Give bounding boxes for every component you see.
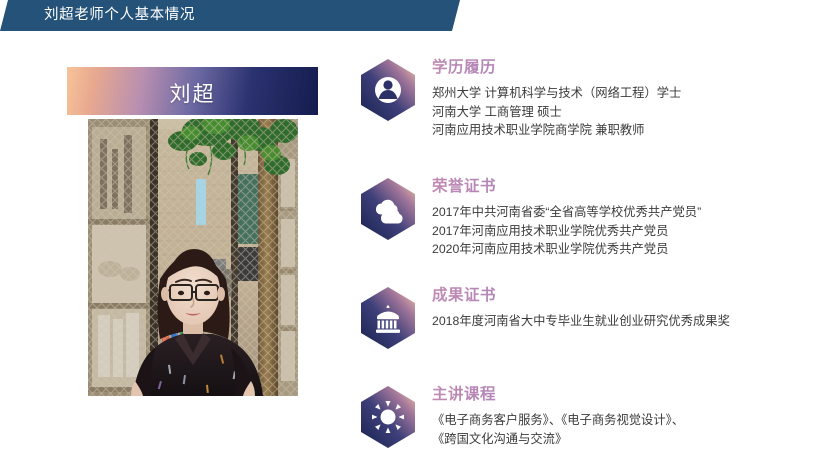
section-education-body: 学历履历 郑州大学 计算机科学与技术（网络工程）学士 河南大学 工商管理 硕士 … [432,58,825,140]
section-title: 主讲课程 [432,385,825,405]
sun-icon [359,385,417,449]
teacher-name: 刘超 [67,78,318,108]
page-title: 刘超老师个人基本情况 [44,4,195,26]
section-courses-body: 主讲课程 《电子商务客户服务》、《电子商务视觉设计》、 《跨国文化沟通与交流》 [432,385,825,448]
section-achievements-body: 成果证书 2018年度河南省大中专毕业生就业创业研究优秀成果奖 [432,286,825,331]
section-line: 2020年河南应用技术职业学院优秀共产党员 [432,240,825,259]
section-line: 《电子商务客户服务》、《电子商务视觉设计》、 [432,411,825,430]
person-icon [359,58,417,122]
bank-building-icon [359,286,417,350]
section-line: 2018年度河南省大中专毕业生就业创业研究优秀成果奖 [432,312,825,331]
section-line: 《跨国文化沟通与交流》 [432,430,825,449]
section-title: 学历履历 [432,58,825,78]
section-title: 荣誉证书 [432,177,825,197]
section-line: 郑州大学 计算机科学与技术（网络工程）学士 [432,84,825,103]
section-line: 河南应用技术职业学院商学院 兼职教师 [432,121,825,140]
section-line: 河南大学 工商管理 硕士 [432,103,825,122]
name-banner: 刘超 [67,67,318,115]
section-line: 2017年中共河南省委“全省高等学校优秀共产党员” [432,203,825,222]
cloud-icon [359,177,417,241]
page-header-banner: 刘超老师个人基本情况 [0,0,460,31]
section-title: 成果证书 [432,286,825,306]
section-honors-body: 荣誉证书 2017年中共河南省委“全省高等学校优秀共产党员” 2017年河南应用… [432,177,825,259]
section-line: 2017年河南应用技术职业学院优秀共产党员 [432,222,825,241]
portrait-photo [88,119,298,396]
